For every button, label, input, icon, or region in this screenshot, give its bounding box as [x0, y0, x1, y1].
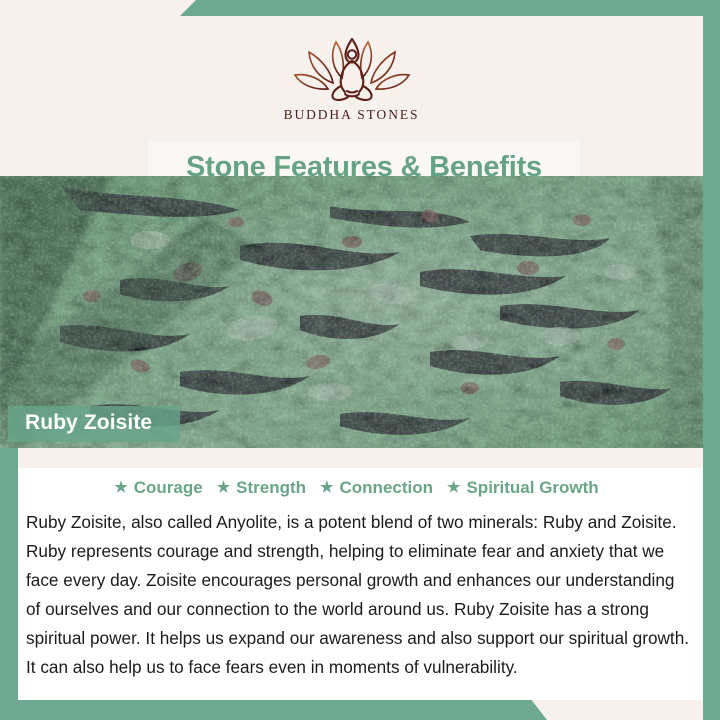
header: BUDDHA STONES Stone Features & Benefits [0, 16, 703, 176]
benefit-connection: Connection [340, 478, 434, 498]
content-card: ★ Courage ★ Strength ★ Connection ★ Spir… [18, 448, 703, 700]
star-icon: ★ [320, 480, 333, 495]
benefit-strength: Strength [236, 478, 306, 498]
brand-name: BUDDHA STONES [284, 107, 420, 123]
infographic-page: BUDDHA STONES Stone Features & Benefits [0, 0, 720, 720]
frame-left-band [0, 410, 18, 720]
star-icon: ★ [217, 480, 230, 495]
frame-top-band [0, 0, 720, 16]
brand-logo: BUDDHA STONES [0, 30, 703, 123]
stone-name-label: Ruby Zoisite [8, 406, 180, 442]
lotus-meditation-figure-icon [293, 30, 411, 104]
benefit-courage: Courage [134, 478, 203, 498]
frame-bottom-band [0, 698, 580, 720]
description-paragraph: Ruby Zoisite, also called Anyolite, is a… [26, 508, 693, 682]
star-icon: ★ [447, 480, 460, 495]
card-top-strip [18, 448, 703, 468]
star-icon: ★ [114, 480, 127, 495]
frame-right-band [703, 0, 720, 720]
benefit-spiritual-growth: Spiritual Growth [466, 478, 598, 498]
benefits-list: ★ Courage ★ Strength ★ Connection ★ Spir… [18, 478, 703, 498]
